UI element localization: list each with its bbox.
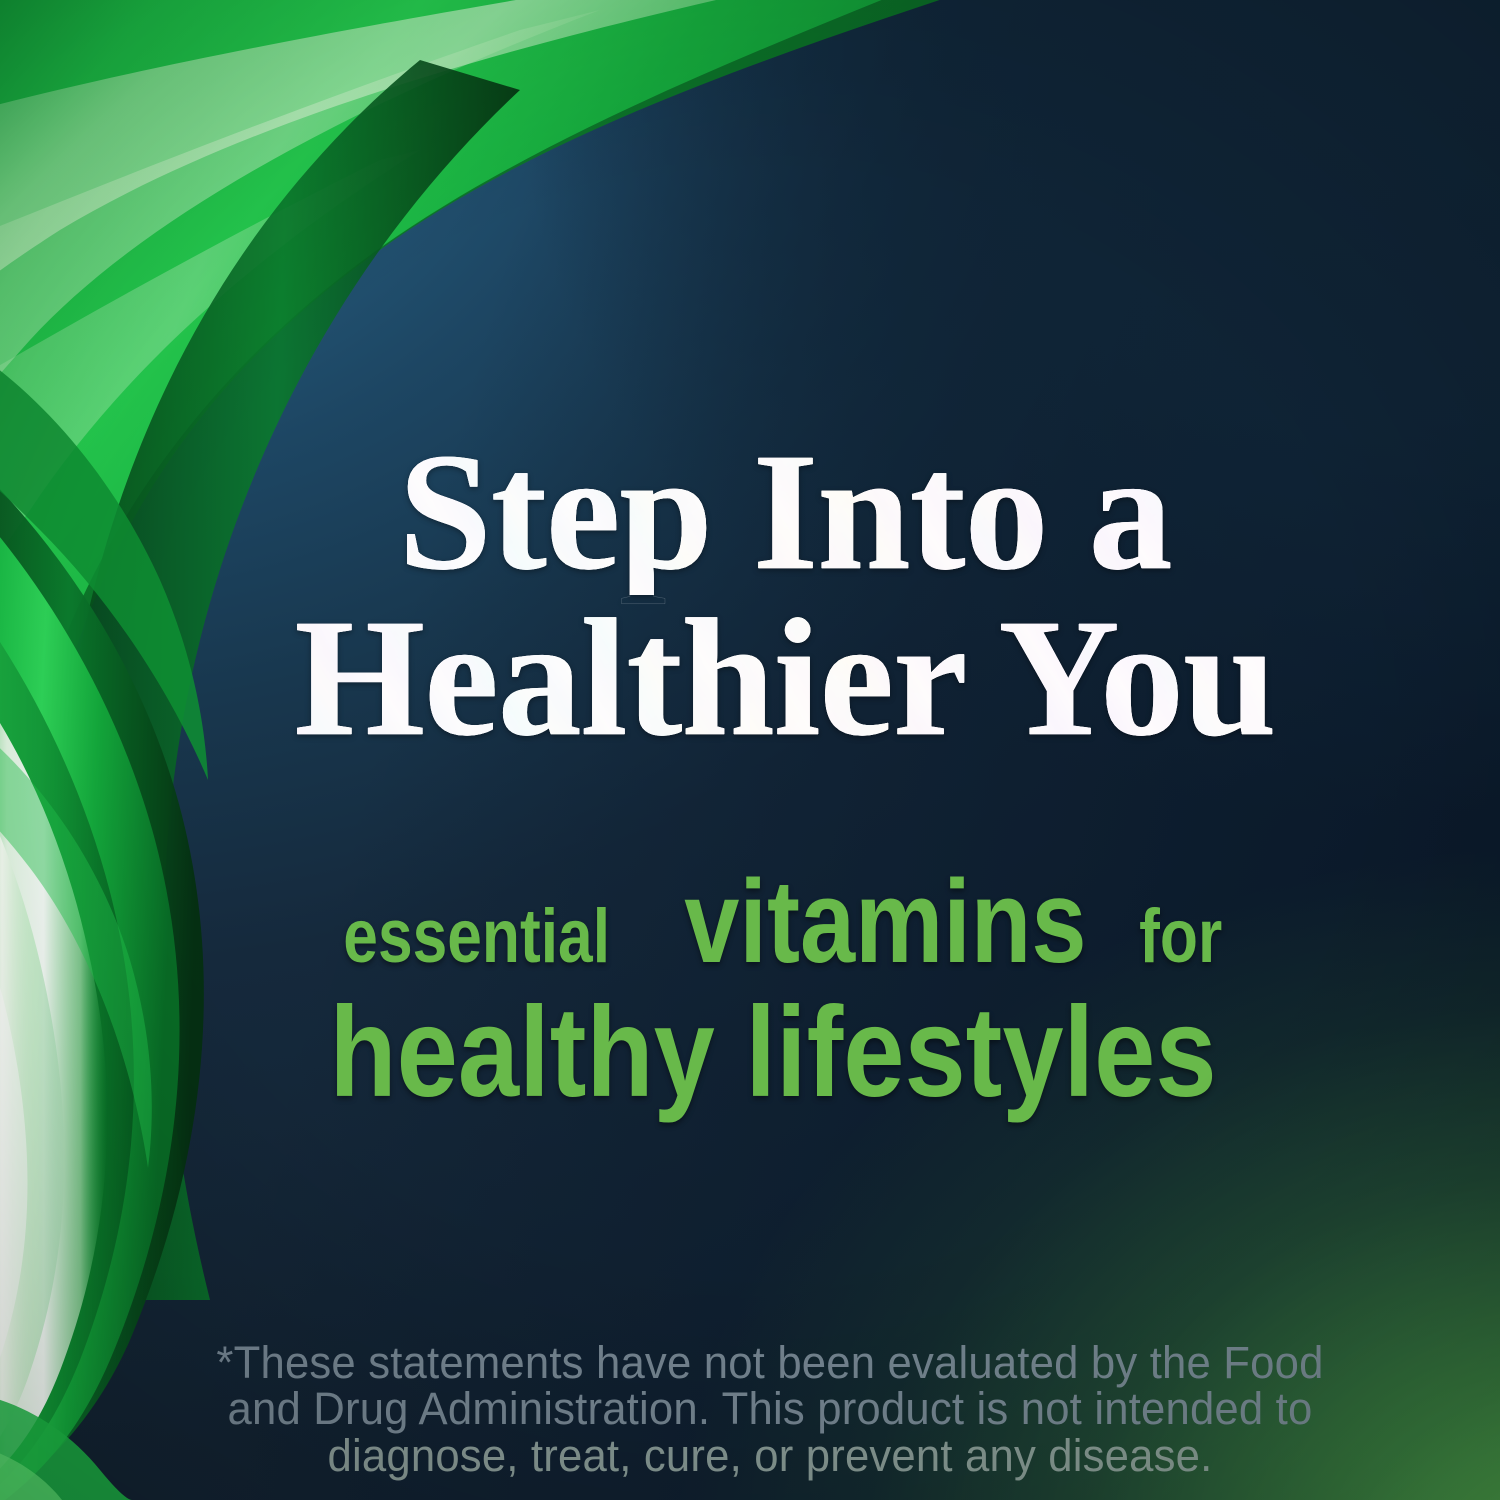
promo-banner: Step Into a Healthier You essential vita… xyxy=(0,0,1500,1500)
background-vignette xyxy=(0,0,1500,1500)
